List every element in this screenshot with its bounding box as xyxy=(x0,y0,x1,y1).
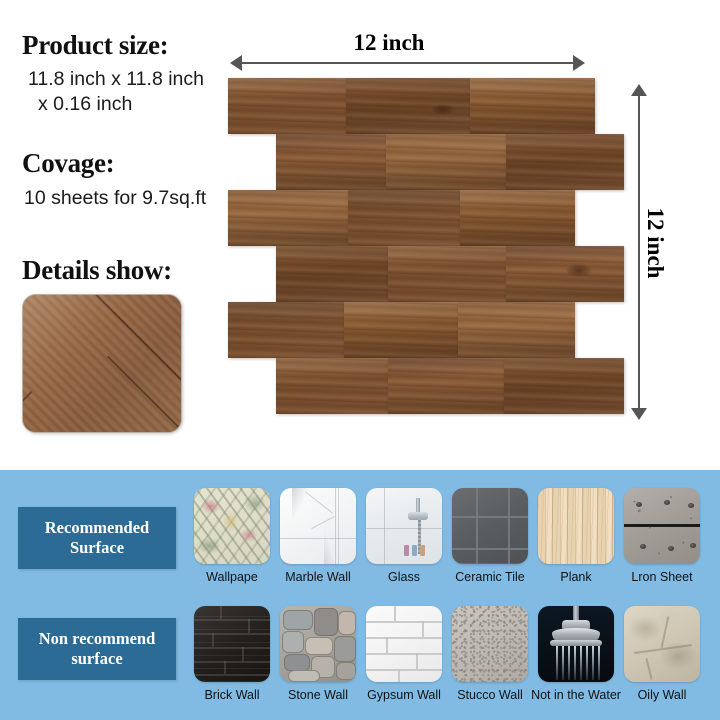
surface-label: Lron Sheet xyxy=(631,570,692,584)
wood-tile xyxy=(228,302,344,358)
wood-tile xyxy=(388,246,506,302)
surface-label: Ceramic Tile xyxy=(455,570,524,584)
non-recommended-surface-badge: Non recommend surface xyxy=(18,618,176,680)
wood-tile xyxy=(228,190,348,246)
non-recommended-surface-row: Brick Wall Stone Wall Gypsum Wall Stucco… xyxy=(194,606,700,702)
glass-thumbnail xyxy=(366,488,442,564)
surface-label: Glass xyxy=(388,570,420,584)
wood-tile xyxy=(348,190,460,246)
arrow-up-icon xyxy=(631,84,647,96)
wood-tile xyxy=(458,302,575,358)
product-spec-section: Product size: 11.8 inch x 11.8 inch x 0.… xyxy=(0,0,720,470)
wood-tile xyxy=(344,302,458,358)
height-arrow-line xyxy=(638,95,640,410)
ceramic-tile-thumbnail xyxy=(452,488,528,564)
marble-wall-thumbnail xyxy=(280,488,356,564)
surface-item-gypsum-wall: Gypsum Wall xyxy=(366,606,442,702)
surface-item-stone-wall: Stone Wall xyxy=(280,606,356,702)
swatch-sheen xyxy=(23,295,181,432)
surface-item-not-in-the-water: Not in the Water xyxy=(538,606,614,702)
height-dimension-label: 12 inch xyxy=(642,208,668,279)
wood-tile xyxy=(504,358,624,414)
surface-label: Brick Wall xyxy=(204,688,259,702)
oily-wall-thumbnail xyxy=(624,606,700,682)
wood-tile xyxy=(470,78,595,134)
wood-tile xyxy=(276,358,388,414)
wood-tile xyxy=(276,134,386,190)
plank-thumbnail xyxy=(538,488,614,564)
coverage-line-1: 10 sheets for 9.7sq.ft xyxy=(24,186,206,212)
surface-item-oily-wall: Oily Wall xyxy=(624,606,700,702)
tile-row xyxy=(276,246,624,302)
gypsum-wall-thumbnail xyxy=(366,606,442,682)
recommended-surface-row: Wallpape Marble Wall Glass Ceramic Tile xyxy=(194,488,700,584)
width-arrow-line xyxy=(240,62,575,64)
details-show-title: Details show: xyxy=(22,255,172,286)
showerhead-water-thumbnail xyxy=(538,606,614,682)
width-dimension-label: 12 inch xyxy=(354,30,425,56)
wallpaper-thumbnail xyxy=(194,488,270,564)
arrow-down-icon xyxy=(631,408,647,420)
tile-row xyxy=(228,190,575,246)
wood-tile xyxy=(506,134,624,190)
tile-row xyxy=(228,78,595,134)
surface-label: Oily Wall xyxy=(638,688,687,702)
surface-item-plank: Plank xyxy=(538,488,614,584)
surface-item-brick-wall: Brick Wall xyxy=(194,606,270,702)
tile-row xyxy=(228,302,575,358)
detail-closeup-swatch xyxy=(22,294,182,433)
surface-label: Marble Wall xyxy=(285,570,351,584)
surface-item-iron-sheet: Lron Sheet xyxy=(624,488,700,584)
iron-sheet-thumbnail xyxy=(624,488,700,564)
surface-item-marble-wall: Marble Wall xyxy=(280,488,356,584)
surface-compatibility-section: Recommended Surface Non recommend surfac… xyxy=(0,470,720,720)
tile-row xyxy=(276,134,624,190)
surface-label: Stone Wall xyxy=(288,688,348,702)
wood-tile xyxy=(276,246,388,302)
wood-tile xyxy=(346,78,470,134)
brick-wall-thumbnail xyxy=(194,606,270,682)
product-size-line-2: x 0.16 inch xyxy=(38,92,132,118)
recommended-surface-badge: Recommended Surface xyxy=(18,507,176,569)
stone-wall-thumbnail xyxy=(280,606,356,682)
surface-item-ceramic-tile: Ceramic Tile xyxy=(452,488,528,584)
product-size-title: Product size: xyxy=(22,30,168,61)
wood-tile xyxy=(506,246,624,302)
product-size-line-1: 11.8 inch x 11.8 inch xyxy=(28,67,204,93)
surface-item-stucco-wall: Stucco Wall xyxy=(452,606,528,702)
arrow-left-icon xyxy=(230,55,242,71)
surface-label: Stucco Wall xyxy=(457,688,523,702)
arrow-right-icon xyxy=(573,55,585,71)
wood-tile xyxy=(386,134,506,190)
wood-tile xyxy=(388,358,504,414)
wood-tile-mosaic xyxy=(228,78,624,418)
tile-row xyxy=(276,358,624,414)
wood-tile xyxy=(228,78,346,134)
surface-label: Not in the Water xyxy=(531,688,621,702)
surface-item-glass: Glass xyxy=(366,488,442,584)
surface-label: Gypsum Wall xyxy=(367,688,441,702)
surface-item-wallpaper: Wallpape xyxy=(194,488,270,584)
surface-label: Wallpape xyxy=(206,570,258,584)
surface-label: Plank xyxy=(560,570,591,584)
wood-tile xyxy=(460,190,575,246)
coverage-title: Covage: xyxy=(22,148,114,179)
stucco-wall-thumbnail xyxy=(452,606,528,682)
